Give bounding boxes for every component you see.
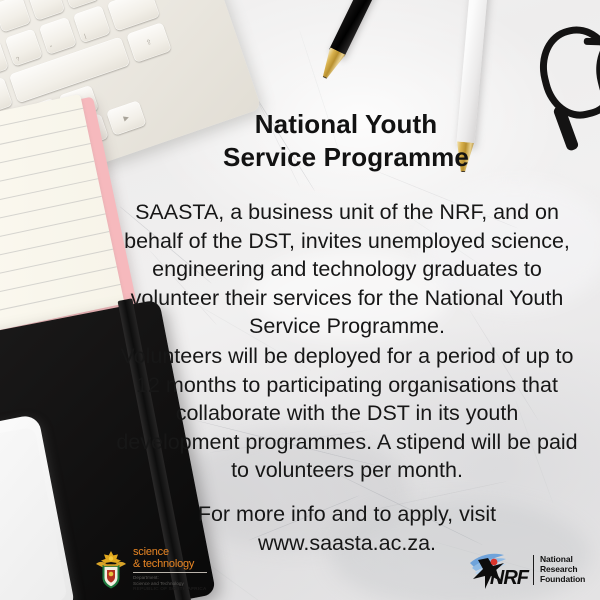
nrf-logo: NRF National Research Foundation (464, 548, 588, 592)
title-line-2: Service Programme (120, 141, 572, 174)
poster-canvas: M < > ? " | cmd alt ⇧ ◀ ▲ ▼ ▶ (0, 0, 600, 600)
dst-line-technology: & technology (133, 559, 207, 573)
paragraph-intro: SAASTA, a business unit of the NRF, and … (112, 198, 582, 341)
dst-line-science: science (133, 547, 207, 558)
title-line-1: National Youth (120, 108, 572, 141)
page-title: National Youth Service Programme (120, 108, 572, 175)
dst-wordmark: science & technology Department: Science… (133, 547, 207, 594)
nrf-line-foundation: Foundation (540, 575, 585, 585)
nrf-star-figure-icon: NRF (464, 549, 528, 591)
nrf-wordmark: National Research Foundation (533, 555, 585, 585)
nrf-acronym: NRF (490, 567, 528, 590)
dst-logo: science & technology Department: Science… (94, 548, 244, 592)
paragraph-details: Volunteers will be deployed for a period… (112, 342, 582, 485)
poster-text-content: National Youth Service Programme SAASTA,… (0, 0, 600, 600)
dst-country-line: REPUBLIC OF SOUTH AFRICA (133, 587, 207, 593)
south-african-coat-of-arms-icon (94, 550, 128, 590)
